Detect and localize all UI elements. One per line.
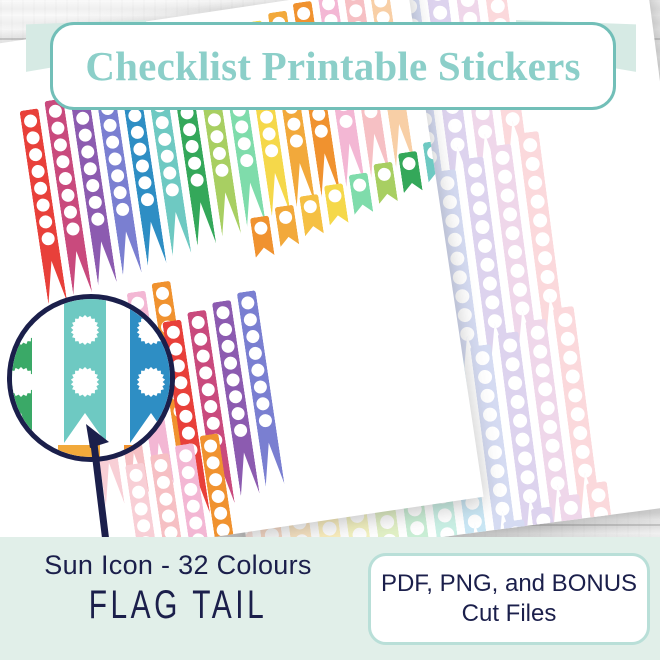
sticker-dot xyxy=(174,375,189,390)
sticker-dot xyxy=(187,156,202,171)
sticker-dot xyxy=(287,117,302,132)
sticker-dot xyxy=(467,514,483,530)
sticker-dot xyxy=(534,363,550,379)
sticker-dot xyxy=(534,232,550,248)
sticker-dot xyxy=(377,167,392,182)
sticker-dot xyxy=(26,130,41,145)
sticker-dot xyxy=(182,122,197,137)
sticker-dot xyxy=(474,350,490,366)
sticker-dot xyxy=(206,455,221,470)
sticker-dot xyxy=(328,188,343,203)
sticker-dot xyxy=(564,369,580,385)
footer-caption: Sun Icon - 32 Colours FLAG TAIL xyxy=(8,551,348,619)
title-plate: Checklist Printable Stickers xyxy=(50,22,616,110)
sticker-dot xyxy=(23,114,38,129)
sticker-dot xyxy=(459,326,475,342)
sticker-dot xyxy=(472,200,488,216)
page-title: Checklist Printable Stickers xyxy=(85,46,580,87)
sticker-dot xyxy=(36,198,51,213)
sticker-dot xyxy=(85,178,100,193)
sticker-dot xyxy=(314,124,329,139)
sticker-dot xyxy=(346,0,361,1)
sticker-dot xyxy=(474,219,490,235)
sticker-dot xyxy=(454,288,470,304)
sticker-dot xyxy=(507,375,523,391)
sticker-dot xyxy=(136,518,151,533)
sticker-dot xyxy=(436,508,452,524)
sticker-dot xyxy=(165,182,180,197)
sticker-dot xyxy=(105,135,120,150)
sticker-dot xyxy=(542,419,558,435)
sticker-dot xyxy=(208,472,223,487)
sticker-dot xyxy=(226,373,241,388)
sticker-dot xyxy=(176,392,191,407)
sticker-dot xyxy=(130,125,145,140)
sticker-dot xyxy=(402,156,417,171)
sticker-dot xyxy=(201,382,216,397)
sun-icon xyxy=(136,367,166,397)
sticker-dot xyxy=(482,407,498,423)
sticker-dot xyxy=(162,166,177,181)
sticker-dot xyxy=(537,250,553,266)
sticker-strip xyxy=(349,172,374,214)
sticker-dot xyxy=(154,458,169,473)
sticker-dot xyxy=(529,194,545,210)
sun-icon xyxy=(136,315,166,345)
sticker-dot xyxy=(321,521,337,537)
sticker-dot xyxy=(181,465,196,480)
sticker-strip xyxy=(250,215,275,257)
sticker-dot xyxy=(499,188,515,204)
sticker-dot xyxy=(487,445,503,461)
sticker-dot xyxy=(484,295,500,311)
sticker-dot xyxy=(33,181,48,196)
sticker-dot xyxy=(28,147,43,162)
sticker-dot xyxy=(278,210,293,225)
sticker-dot xyxy=(456,307,472,323)
sticker-dot xyxy=(321,0,336,11)
sticker-dot xyxy=(212,146,227,161)
sticker-dot xyxy=(373,0,388,8)
sticker-dot xyxy=(409,520,425,536)
sun-icon xyxy=(70,315,100,345)
sticker-dot xyxy=(135,159,150,174)
sticker-dot xyxy=(80,145,95,160)
sticker-dot xyxy=(447,232,463,248)
sticker-dot xyxy=(459,0,475,8)
sticker-dot xyxy=(83,161,98,176)
sticker-dot xyxy=(178,448,193,463)
sticker-dot xyxy=(196,349,211,364)
sticker-dot xyxy=(61,188,76,203)
sticker-dot xyxy=(477,124,493,140)
sticker-dot xyxy=(502,338,518,354)
sticker-dot xyxy=(53,138,68,153)
file-format-text: PDF, PNG, and BONUS Cut Files xyxy=(381,569,637,629)
sticker-dot xyxy=(258,413,273,428)
sticker-dot xyxy=(245,329,260,344)
file-format-line-1: PDF, PNG, and BONUS xyxy=(381,570,637,597)
sticker-dot xyxy=(233,423,248,438)
sticker-dot xyxy=(527,175,543,191)
sticker-dot xyxy=(489,463,505,479)
sticker-dot xyxy=(108,152,123,167)
sticker-dot xyxy=(514,432,530,448)
sticker-dot xyxy=(449,251,465,267)
sticker-dot xyxy=(447,118,463,134)
sticker-dot xyxy=(502,207,518,223)
sticker-dot xyxy=(577,463,593,479)
sticker-dot xyxy=(494,150,510,166)
sticker-dot xyxy=(289,134,304,149)
caption-line-2: FLAG TAIL xyxy=(28,585,327,625)
sticker-dot xyxy=(188,516,203,531)
sticker-dot xyxy=(547,457,563,473)
sticker-dot xyxy=(231,406,246,421)
sticker-dot xyxy=(186,499,201,514)
sticker-dot xyxy=(58,171,73,186)
sticker-dot xyxy=(161,509,176,524)
sticker-dot xyxy=(157,132,172,147)
sticker-dot xyxy=(88,195,103,210)
sticker-dot xyxy=(537,381,553,397)
sticker-dot xyxy=(512,282,528,298)
sticker-dot xyxy=(487,313,503,329)
file-format-box: PDF, PNG, and BONUS Cut Files xyxy=(368,553,650,645)
sticker-dot xyxy=(215,163,230,178)
sticker-dot xyxy=(155,115,170,130)
sticker-dot xyxy=(442,194,458,210)
sticker-dot xyxy=(203,439,218,454)
sticker-dot xyxy=(562,350,578,366)
sticker-strip xyxy=(299,194,324,236)
sticker-dot xyxy=(234,120,249,135)
sticker-dot xyxy=(262,127,277,142)
sticker-dot xyxy=(239,153,254,168)
sun-icon xyxy=(70,367,100,397)
sticker-dot xyxy=(303,199,318,214)
sticker-dot xyxy=(210,129,225,144)
sticker-dot xyxy=(248,346,263,361)
sun-icon xyxy=(7,315,36,345)
sticker-dot xyxy=(110,168,125,183)
sticker-dot xyxy=(66,222,81,237)
sticker-dot xyxy=(185,139,200,154)
sticker-dot xyxy=(477,238,493,254)
sticker-dot xyxy=(243,312,258,327)
sticker-dot xyxy=(211,489,226,504)
sticker-dot xyxy=(159,492,174,507)
sticker-dot xyxy=(213,506,228,521)
sticker-dot xyxy=(193,332,208,347)
sticker-dot xyxy=(524,156,540,172)
sticker-dot xyxy=(504,357,520,373)
product-listing-image: Checklist Printable Stickers Sun Icon - … xyxy=(0,0,660,660)
sticker-dot xyxy=(251,363,266,378)
sticker-dot xyxy=(449,137,465,153)
sticker-dot xyxy=(467,163,483,179)
sticker-dot xyxy=(190,173,205,188)
sticker-dot xyxy=(179,409,194,424)
file-format-line-2: Cut Files xyxy=(462,600,557,627)
sticker-dot xyxy=(492,482,508,498)
title-ribbon: Checklist Printable Stickers xyxy=(0,14,660,114)
sticker-dot xyxy=(559,331,575,347)
sticker-dot xyxy=(529,325,545,341)
sticker-dot xyxy=(253,380,268,395)
sticker-dot xyxy=(489,0,505,14)
sticker-dot xyxy=(507,244,523,260)
sticker-dot xyxy=(103,118,118,133)
sticker-dot xyxy=(522,137,538,153)
sticker-dot xyxy=(216,305,231,320)
sticker-dot xyxy=(519,470,535,486)
sticker-dot xyxy=(539,400,555,416)
sticker-strip xyxy=(324,183,349,225)
sticker-dot xyxy=(38,215,53,230)
sticker-dot xyxy=(429,0,445,2)
sticker-dot xyxy=(237,136,252,151)
sticker-dot xyxy=(228,389,243,404)
sticker-dot xyxy=(549,476,565,492)
sticker-dot xyxy=(567,388,583,404)
sticker-dot xyxy=(51,121,66,136)
sun-icon xyxy=(7,367,36,397)
sticker-dot xyxy=(191,315,206,330)
sticker-dot xyxy=(181,426,196,441)
sticker-dot xyxy=(509,394,525,410)
sticker-dot xyxy=(63,205,78,220)
sticker-dot xyxy=(264,143,279,158)
sticker-dot xyxy=(572,425,588,441)
sticker-dot xyxy=(509,263,525,279)
sticker-dot xyxy=(563,500,579,516)
sticker-dot xyxy=(512,413,528,429)
sticker-strip xyxy=(398,151,423,193)
sticker-dot xyxy=(31,164,46,179)
sticker-dot xyxy=(532,213,548,229)
sticker-dot xyxy=(198,366,213,381)
sticker-dot xyxy=(569,406,585,422)
sticker-dot xyxy=(133,142,148,157)
sticker-strip xyxy=(373,162,398,204)
sticker-dot xyxy=(532,344,548,360)
sticker-dot xyxy=(544,438,560,454)
sticker-dot xyxy=(469,182,485,198)
sticker-dot xyxy=(514,301,530,317)
sticker-dot xyxy=(479,257,495,273)
sticker-dot xyxy=(590,487,606,503)
sticker-dot xyxy=(479,388,495,404)
zoomed-flag-sticker xyxy=(10,294,32,443)
sticker-dot xyxy=(484,426,500,442)
sticker-dot xyxy=(41,231,56,246)
sticker-dot xyxy=(504,225,520,241)
sticker-dot xyxy=(494,501,510,517)
footer-band: Sun Icon - 32 Colours FLAG TAIL PDF, PNG… xyxy=(0,537,660,660)
sticker-dot xyxy=(254,221,269,236)
sticker-dot xyxy=(539,269,555,285)
sticker-strip xyxy=(275,205,300,247)
sticker-dot xyxy=(444,213,460,229)
sticker-dot xyxy=(522,488,538,504)
sticker-dot xyxy=(218,322,233,337)
sticker-dot xyxy=(497,169,513,185)
sticker-dot xyxy=(339,114,354,129)
sticker-dot xyxy=(452,270,468,286)
sticker-dot xyxy=(207,112,222,127)
sticker-dot xyxy=(90,212,105,227)
sticker-dot xyxy=(574,444,590,460)
sticker-dot xyxy=(78,128,93,143)
sticker-dot xyxy=(183,482,198,497)
sticker-dot xyxy=(203,399,218,414)
sticker-dot xyxy=(240,296,255,311)
sticker-dot xyxy=(256,396,271,411)
sticker-dot xyxy=(115,202,130,217)
sticker-dot xyxy=(517,451,533,467)
sticker-dot xyxy=(56,154,71,169)
sticker-dot xyxy=(138,175,153,190)
sticker-dot xyxy=(140,192,155,207)
sticker-dot xyxy=(439,175,455,191)
sticker-dot xyxy=(557,312,573,328)
caption-line-1: Sun Icon - 32 Colours xyxy=(8,551,348,579)
sticker-dot xyxy=(156,475,171,490)
sticker-dot xyxy=(113,185,128,200)
sticker-dot xyxy=(379,514,395,530)
sticker-dot xyxy=(542,288,558,304)
callout-arrow-icon xyxy=(78,418,138,544)
sticker-dot xyxy=(160,149,175,164)
sticker-dot xyxy=(206,416,221,431)
sticker-dot xyxy=(352,178,367,193)
sticker-dot xyxy=(221,339,236,354)
sticker-dot xyxy=(223,356,238,371)
sticker-dot xyxy=(482,276,498,292)
sticker-dot xyxy=(477,369,493,385)
